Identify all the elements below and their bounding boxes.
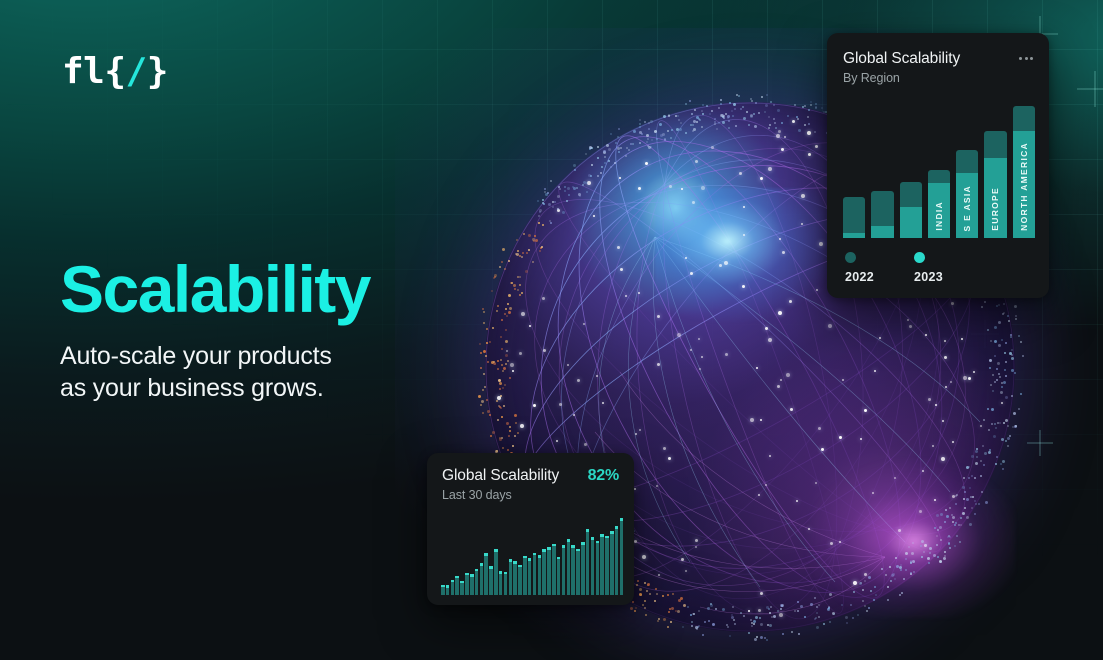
trend-bar[interactable] (504, 572, 508, 595)
globe-dust-particle (751, 100, 753, 102)
globe-dust-particle (881, 568, 883, 570)
globe-dust-particle (797, 610, 799, 612)
globe-dust-particle (923, 551, 925, 553)
globe-dust-particle (500, 407, 502, 409)
trend-chart-card[interactable]: Global Scalability Last 30 days 82% (427, 453, 634, 605)
globe-dust-particle (667, 130, 669, 132)
globe-dust-particle (971, 507, 973, 509)
globe-dust-particle (925, 544, 927, 546)
globe-dust-particle (657, 620, 659, 622)
globe-dust-particle (516, 253, 519, 256)
globe-dust-particle (841, 604, 843, 606)
globe-dust-particle (497, 419, 499, 421)
globe-dust-particle (497, 368, 499, 370)
globe-dust-particle (505, 354, 508, 357)
trend-bar-cap (615, 526, 619, 529)
region-bar[interactable]: S E ASIA (956, 150, 978, 238)
globe-dust-particle (508, 311, 511, 314)
trend-bar[interactable] (518, 565, 522, 595)
trend-bar-cap (596, 541, 600, 544)
globe-dust-particle (818, 604, 820, 606)
globe-dust-particle (859, 582, 862, 585)
globe-dust-particle (952, 521, 954, 523)
globe-dust-particle (991, 408, 994, 411)
trend-bar-cap (605, 536, 609, 539)
trend-bar[interactable] (552, 544, 556, 595)
globe-dust-particle (637, 580, 639, 582)
globe-dust-particle (499, 382, 502, 385)
globe-dust-particle (765, 104, 768, 107)
globe-dust-particle (993, 435, 996, 438)
globe-dust-particle (568, 194, 570, 196)
globe-dust-particle (731, 616, 734, 619)
globe-dust-particle (610, 133, 612, 135)
globe-dust-particle (1001, 386, 1003, 388)
globe-dust-particle (990, 384, 992, 386)
trend-bar[interactable] (600, 534, 604, 595)
globe-dust-particle (492, 431, 495, 434)
globe-dust-particle (482, 308, 484, 310)
globe-dust-particle (501, 348, 503, 350)
globe-dust-particle (1022, 355, 1024, 357)
globe-dust-particle (517, 250, 519, 252)
globe-dust-particle (499, 438, 502, 441)
globe-dust-particle (960, 517, 962, 519)
region-bar-label: S E ASIA (956, 185, 978, 231)
globe-dust-particle (484, 386, 486, 388)
globe-dust-particle (707, 607, 710, 610)
globe-dust-particle (486, 328, 488, 330)
globe-dust-particle (997, 362, 1000, 365)
trend-bar[interactable] (576, 549, 580, 595)
globe-dust-particle (716, 128, 718, 130)
globe-dust-particle (782, 633, 784, 635)
globe-dust-particle (810, 101, 812, 103)
globe-dust-particle (483, 311, 485, 313)
trend-bar[interactable] (460, 581, 464, 595)
globe-dust-particle (804, 616, 806, 618)
globe-dust-particle (512, 445, 514, 447)
globe-dust-particle (492, 327, 494, 329)
globe-dust-particle (493, 362, 496, 365)
globe-dust-particle (639, 123, 641, 125)
globe-dust-particle (992, 390, 994, 392)
globe-dust-particle (908, 546, 910, 548)
trend-bar[interactable] (489, 566, 493, 595)
globe-dust-particle (501, 416, 503, 418)
globe-dust-particle (489, 414, 491, 416)
legend-item-2022[interactable]: 2022 (845, 252, 874, 284)
globe-dust-particle (685, 103, 687, 105)
globe-dust-particle (526, 252, 528, 254)
globe-dust-particle (544, 188, 546, 190)
globe-dust-particle (667, 594, 669, 596)
trend-bar[interactable] (494, 549, 498, 595)
globe-dust-particle (648, 128, 650, 130)
globe-dust-particle (808, 123, 810, 125)
globe-dust-particle (787, 115, 789, 117)
globe-dust-particle (489, 341, 491, 343)
trend-bar[interactable] (567, 539, 571, 595)
globe-dust-particle (959, 541, 961, 543)
globe-dust-particle (701, 110, 703, 112)
globe-dust-particle (755, 102, 757, 104)
globe-dust-particle (497, 305, 499, 307)
trend-bar[interactable] (596, 541, 600, 595)
globe-dust-particle (853, 591, 855, 593)
trend-bar[interactable] (509, 559, 513, 595)
globe-dust-particle (608, 160, 610, 162)
globe-dust-particle (615, 142, 617, 144)
globe-dust-particle (962, 512, 965, 515)
globe-dust-particle (591, 164, 593, 166)
globe-dust-particle (777, 610, 779, 612)
globe-dust-particle (501, 319, 503, 321)
globe-dust-particle (654, 600, 656, 602)
trend-bar[interactable] (465, 573, 469, 595)
globe-dust-particle (521, 256, 523, 258)
globe-dust-particle (929, 547, 932, 550)
globe-dust-particle (740, 612, 742, 614)
trend-bar-cap (480, 563, 484, 566)
globe-dust-particle (532, 238, 535, 241)
globe-dust-particle (729, 635, 731, 637)
globe-dust-particle (504, 313, 506, 315)
globe-dust-particle (727, 626, 729, 628)
legend-year-label: 2022 (845, 270, 874, 284)
globe-dust-particle (597, 157, 599, 159)
trend-bar[interactable] (441, 585, 445, 595)
trend-bar[interactable] (451, 580, 455, 595)
trend-bar[interactable] (615, 526, 619, 595)
brand-logo[interactable]: fl{/} (62, 54, 168, 90)
trend-card-subtitle: Last 30 days (442, 488, 559, 502)
trend-bar[interactable] (528, 558, 532, 595)
globe-dust-particle (972, 496, 974, 498)
globe-dust-particle (720, 99, 722, 101)
trend-bar[interactable] (591, 537, 595, 595)
globe-dust-particle (952, 516, 955, 519)
globe-dust-particle (981, 491, 983, 493)
region-bar-label: NORTH AMERICA (1013, 142, 1035, 231)
globe-dust-particle (866, 610, 868, 612)
region-chart-card[interactable]: Global Scalability By Region INDIAS E AS… (827, 33, 1049, 298)
globe-dust-particle (994, 355, 996, 357)
globe-dust-particle (905, 569, 907, 571)
globe-dust-particle (1011, 357, 1014, 360)
globe-dust-particle (513, 284, 516, 287)
globe-dust-particle (664, 139, 666, 141)
region-bar-segment-2023 (900, 207, 922, 238)
globe-dust-particle (670, 621, 672, 623)
globe-dust-particle (949, 507, 951, 509)
globe-dust-particle (733, 103, 736, 106)
globe-dust-particle (534, 235, 536, 237)
globe-dust-particle (816, 612, 818, 614)
globe-dust-particle (1010, 336, 1012, 338)
globe-dust-particle (815, 103, 817, 105)
globe-dust-particle (517, 276, 519, 278)
ellipsis-icon[interactable] (1019, 50, 1033, 60)
globe-dust-particle (983, 464, 985, 466)
globe-dust-particle (502, 387, 504, 389)
globe-dust-particle (750, 619, 752, 621)
globe-dust-particle (743, 615, 745, 617)
trend-bar[interactable] (562, 545, 566, 595)
globe-dust-particle (720, 103, 722, 105)
globe-dust-particle (971, 475, 973, 477)
globe-dust-particle (875, 594, 877, 596)
trend-bar[interactable] (446, 585, 450, 595)
trend-bar[interactable] (513, 561, 517, 595)
globe-dust-particle (501, 364, 503, 366)
globe-dust-particle (654, 130, 657, 133)
globe-dust-particle (921, 556, 923, 558)
globe-dust-particle (644, 607, 646, 609)
globe-dust-particle (775, 127, 777, 129)
trend-bar-cap (562, 545, 566, 548)
region-bar[interactable]: NORTH AMERICA (1013, 106, 1035, 238)
globe-dust-particle (1005, 361, 1007, 363)
globe-dust-particle (890, 580, 892, 582)
globe-dust-particle (963, 477, 965, 479)
trend-bar[interactable] (538, 555, 542, 595)
globe-dust-particle (864, 605, 866, 607)
globe-dust-particle (774, 122, 776, 124)
globe-dust-particle (505, 340, 508, 343)
globe-dust-particle (874, 586, 876, 588)
globe-dust-particle (491, 290, 493, 292)
trend-bar[interactable] (605, 536, 609, 595)
trend-bar[interactable] (523, 556, 527, 595)
region-bar[interactable]: INDIA (928, 170, 950, 239)
globe-dust-particle (988, 429, 990, 431)
globe-dust-particle (566, 200, 568, 202)
globe-dust-particle (509, 307, 512, 310)
globe-dust-particle (559, 188, 561, 190)
globe-dust-particle (823, 111, 825, 113)
globe-dust-particle (994, 381, 996, 383)
globe-dust-particle (644, 121, 646, 123)
region-card-subtitle: By Region (843, 71, 960, 85)
globe-dust-particle (868, 576, 871, 579)
trend-bar-cap (610, 531, 614, 534)
globe-dust-particle (804, 105, 806, 107)
globe-dust-particle (1004, 352, 1006, 354)
globe-dust-particle (507, 303, 509, 305)
globe-dust-particle (709, 113, 711, 115)
globe-dust-particle (554, 201, 556, 203)
globe-dust-particle (768, 116, 770, 118)
globe-dust-particle (539, 250, 541, 252)
trend-bar[interactable] (610, 531, 614, 595)
globe-dust-particle (573, 164, 576, 167)
globe-dust-particle (562, 211, 565, 214)
globe-dust-particle (687, 606, 689, 608)
globe-dust-particle (685, 132, 687, 134)
globe-dust-particle (656, 138, 658, 140)
globe-dust-particle (989, 359, 992, 362)
globe-dust-particle (940, 513, 943, 516)
globe-dust-particle (948, 543, 950, 545)
globe-dust-particle (815, 106, 817, 108)
globe-dust-particle (985, 501, 988, 504)
globe-dust-particle (899, 594, 901, 596)
globe-dust-particle (630, 607, 633, 610)
globe-dust-particle (514, 288, 516, 290)
region-bar[interactable]: EUROPE (984, 131, 1006, 238)
globe-dust-particle (1002, 313, 1004, 315)
globe-dust-particle (539, 209, 542, 212)
globe-dust-particle (734, 623, 736, 625)
globe-dust-particle (773, 118, 775, 120)
region-bar[interactable] (871, 191, 893, 238)
trend-bar-cap (600, 534, 604, 537)
globe-dust-particle (964, 507, 966, 509)
region-bar[interactable] (843, 197, 865, 238)
globe-dust-particle (944, 521, 946, 523)
trend-bar[interactable] (455, 576, 459, 595)
trend-bar[interactable] (484, 553, 488, 595)
globe-dust-particle (722, 608, 725, 611)
legend-item-2023[interactable]: 2023 (914, 252, 943, 284)
globe-dust-particle (992, 374, 994, 376)
globe-dust-particle (497, 360, 499, 362)
globe-dust-particle (895, 557, 897, 559)
globe-dust-particle (753, 113, 755, 115)
region-bar[interactable] (900, 182, 922, 238)
globe-dust-particle (532, 261, 534, 263)
globe-dust-particle (557, 195, 560, 198)
globe-dust-particle (487, 410, 490, 413)
globe-dust-particle (868, 607, 870, 609)
globe-dust-particle (768, 127, 770, 129)
trend-bar-cap (586, 529, 590, 532)
trend-bar[interactable] (557, 557, 561, 595)
globe-dust-particle (905, 558, 907, 560)
globe-dust-particle (516, 239, 518, 241)
trend-bar-cap (475, 569, 479, 572)
globe-dust-particle (901, 592, 903, 594)
globe-dust-particle (766, 94, 768, 96)
globe-dust-particle (974, 513, 976, 515)
trend-bar[interactable] (499, 571, 503, 595)
globe-dust-particle (490, 435, 492, 437)
trend-bar[interactable] (480, 563, 484, 595)
trend-bar-cap (557, 557, 561, 560)
globe-dust-particle (519, 294, 521, 296)
trend-bar[interactable] (620, 518, 624, 595)
trend-bar[interactable] (533, 553, 537, 595)
globe-dust-particle (814, 597, 816, 599)
globe-dust-particle (885, 574, 887, 576)
trend-card-header: Global Scalability Last 30 days 82% (442, 467, 619, 502)
globe-dust-particle (557, 208, 559, 210)
trend-bar[interactable] (475, 569, 479, 595)
globe-dust-particle (509, 377, 511, 379)
trend-bar[interactable] (542, 549, 546, 595)
globe-dust-particle (590, 175, 592, 177)
globe-dust-particle (680, 122, 682, 124)
trend-bar-cap (441, 585, 445, 588)
globe-dust-particle (691, 113, 693, 115)
region-card-titles: Global Scalability By Region (843, 50, 960, 85)
globe-dust-particle (751, 625, 753, 627)
globe-dust-particle (974, 500, 976, 502)
trend-bar-cap (567, 539, 571, 542)
globe-dust-particle (955, 503, 957, 505)
globe-dust-particle (944, 551, 946, 553)
globe-dust-particle (698, 610, 700, 612)
globe-dust-particle (1001, 438, 1004, 441)
globe-dust-particle (499, 266, 501, 268)
trend-bar[interactable] (571, 545, 575, 595)
globe-dust-particle (639, 588, 642, 591)
globe-dust-particle (597, 175, 599, 177)
trend-bar-cap (484, 553, 488, 556)
globe-dust-particle (542, 199, 544, 201)
globe-dust-particle (650, 120, 653, 123)
globe-dust-particle (873, 599, 875, 601)
globe-dust-particle (1002, 460, 1005, 463)
globe-dust-particle (620, 147, 622, 149)
globe-dust-particle (1018, 408, 1020, 410)
globe-dust-particle (506, 315, 508, 317)
globe-dust-particle (548, 203, 551, 206)
trend-bar[interactable] (581, 542, 585, 595)
globe-dust-particle (903, 578, 905, 580)
trend-bar[interactable] (470, 574, 474, 595)
globe-dust-particle (718, 107, 720, 109)
globe-dust-particle (502, 370, 504, 372)
trend-percent-value: 82% (588, 467, 619, 485)
globe-dust-particle (718, 122, 720, 124)
globe-dust-particle (509, 430, 511, 432)
globe-dust-particle (500, 395, 502, 397)
globe-dust-particle (996, 379, 998, 381)
globe-dust-particle (956, 494, 958, 496)
globe-dust-particle (672, 593, 674, 595)
globe-dust-particle (764, 111, 766, 113)
globe-dust-particle (508, 260, 510, 262)
globe-dust-particle (614, 162, 616, 164)
globe-dust-particle (515, 422, 517, 424)
globe-dust-particle (1020, 341, 1022, 343)
globe-dust-particle (585, 153, 587, 155)
globe-dust-particle (934, 527, 936, 529)
globe-dust-particle (996, 456, 998, 458)
globe-dust-particle (1020, 393, 1022, 395)
globe-dust-particle (777, 109, 780, 112)
globe-dust-particle (508, 294, 511, 297)
globe-dust-particle (486, 399, 488, 401)
trend-bar[interactable] (547, 547, 551, 595)
globe-dust-particle (651, 139, 653, 141)
globe-dust-particle (644, 600, 646, 602)
trend-bar-cap (576, 549, 580, 552)
region-card-title: Global Scalability (843, 50, 960, 68)
globe-dust-particle (981, 306, 983, 308)
globe-dust-particle (889, 566, 891, 568)
legend-dot-icon (914, 252, 925, 263)
globe-dust-particle (1003, 381, 1006, 384)
globe-dust-particle (655, 588, 657, 590)
globe-dust-particle (485, 355, 487, 357)
globe-dust-particle (954, 524, 956, 526)
globe-dust-particle (887, 586, 889, 588)
globe-dust-particle (564, 190, 566, 192)
trend-bar[interactable] (586, 529, 590, 595)
